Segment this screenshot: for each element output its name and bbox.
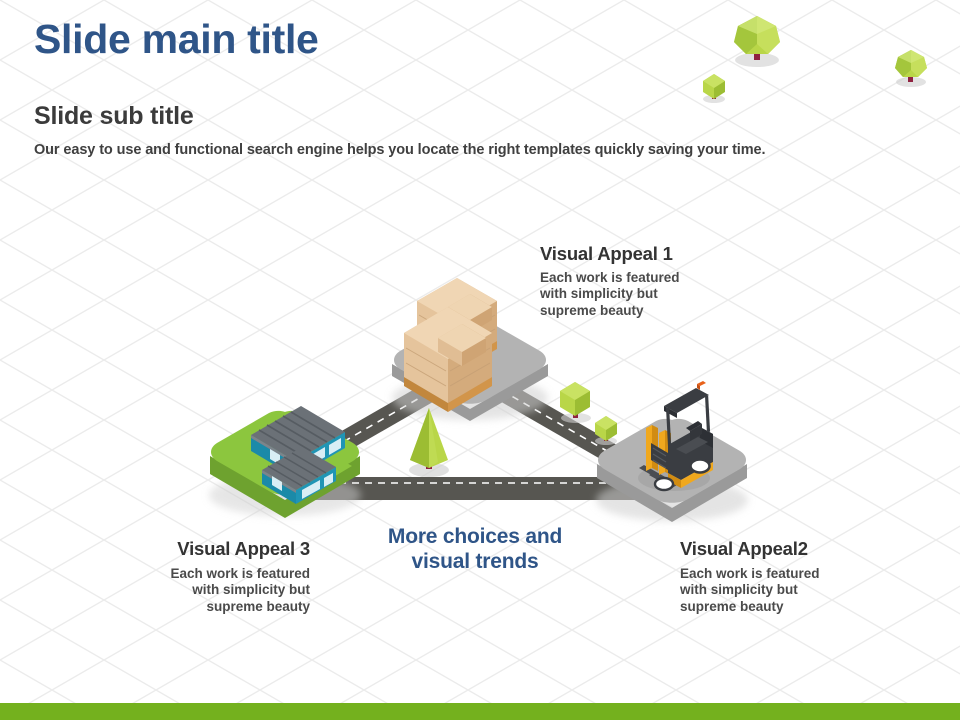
- tree-cube-top-left: [703, 74, 725, 103]
- pallet-platform: [392, 278, 548, 421]
- pallet-stack-front: [404, 307, 492, 412]
- road-network: [300, 379, 658, 500]
- page-subtitle: Slide sub title: [34, 102, 194, 131]
- callout-body-appeal2: Each work is featured with simplicity bu…: [680, 566, 820, 615]
- slide-canvas: Slide main title Slide sub title Our eas…: [0, 0, 960, 720]
- road-warehouse-to-forklift: [300, 477, 658, 500]
- center-caption: More choices and visual trends: [355, 524, 595, 574]
- tree-conifer-center: [409, 408, 449, 477]
- tree-poly-top-right: [895, 50, 927, 87]
- road-pallet-to-forklift: [491, 384, 643, 472]
- warehouse-building-small: [262, 447, 336, 504]
- tree-cube-small-right: [560, 382, 591, 423]
- callout-body-appeal1: Each work is featured with simplicity bu…: [540, 270, 680, 319]
- warehouse-platform: [209, 406, 361, 518]
- callout-title-appeal1: Visual Appeal 1: [540, 243, 673, 265]
- road-pallet-to-warehouse: [300, 379, 452, 467]
- callout-body-appeal3: Each work is featured with simplicity bu…: [170, 566, 310, 615]
- pallet-stack-rear: [417, 278, 497, 372]
- tree-poly-large-top: [734, 16, 780, 67]
- forklift-platform: [596, 381, 748, 522]
- page-description: Our easy to use and functional search en…: [34, 142, 765, 158]
- page-title: Slide main title: [34, 16, 319, 63]
- footer-accent-bar: [0, 703, 960, 720]
- callout-title-appeal3: Visual Appeal 3: [177, 538, 310, 560]
- callout-title-appeal2: Visual Appeal2: [680, 538, 808, 560]
- tree-cube-tiny-right: [595, 416, 617, 445]
- forklift-vehicle: [638, 381, 713, 491]
- warehouse-building-large: [251, 406, 345, 477]
